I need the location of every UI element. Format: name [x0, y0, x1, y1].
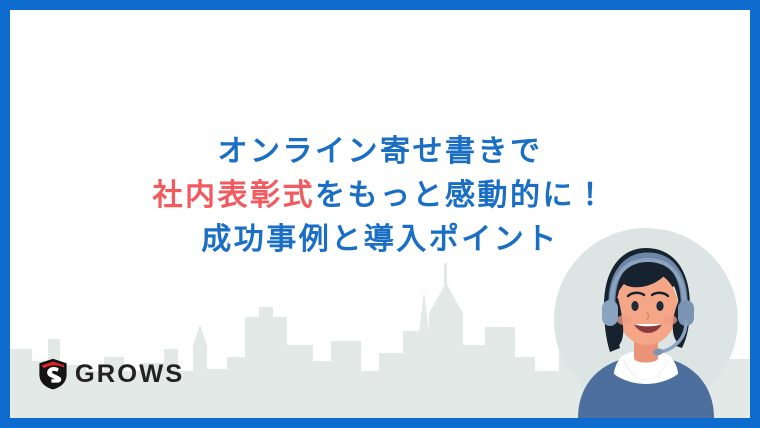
grows-logo[interactable]: GROWS [38, 358, 183, 390]
headline-line-3: 成功事例と導入ポイント [10, 218, 750, 262]
headline-line-2-rest: をもっと感動的に！ [315, 179, 608, 212]
headline-highlight: 社内表彰式 [153, 179, 316, 212]
headline-block: オンライン寄せ書きで 社内表彰式をもっと感動的に！ 成功事例と導入ポイント [10, 130, 750, 262]
banner-canvas: オンライン寄せ書きで 社内表彰式をもっと感動的に！ 成功事例と導入ポイント [10, 10, 750, 418]
banner-frame: オンライン寄せ書きで 社内表彰式をもっと感動的に！ 成功事例と導入ポイント [0, 0, 760, 428]
headline-line-1: オンライン寄せ書きで [10, 130, 750, 174]
grows-shield-icon [38, 358, 68, 390]
grows-wordmark: GROWS [75, 362, 184, 387]
headline-line-2: 社内表彰式をもっと感動的に！ [10, 174, 750, 218]
